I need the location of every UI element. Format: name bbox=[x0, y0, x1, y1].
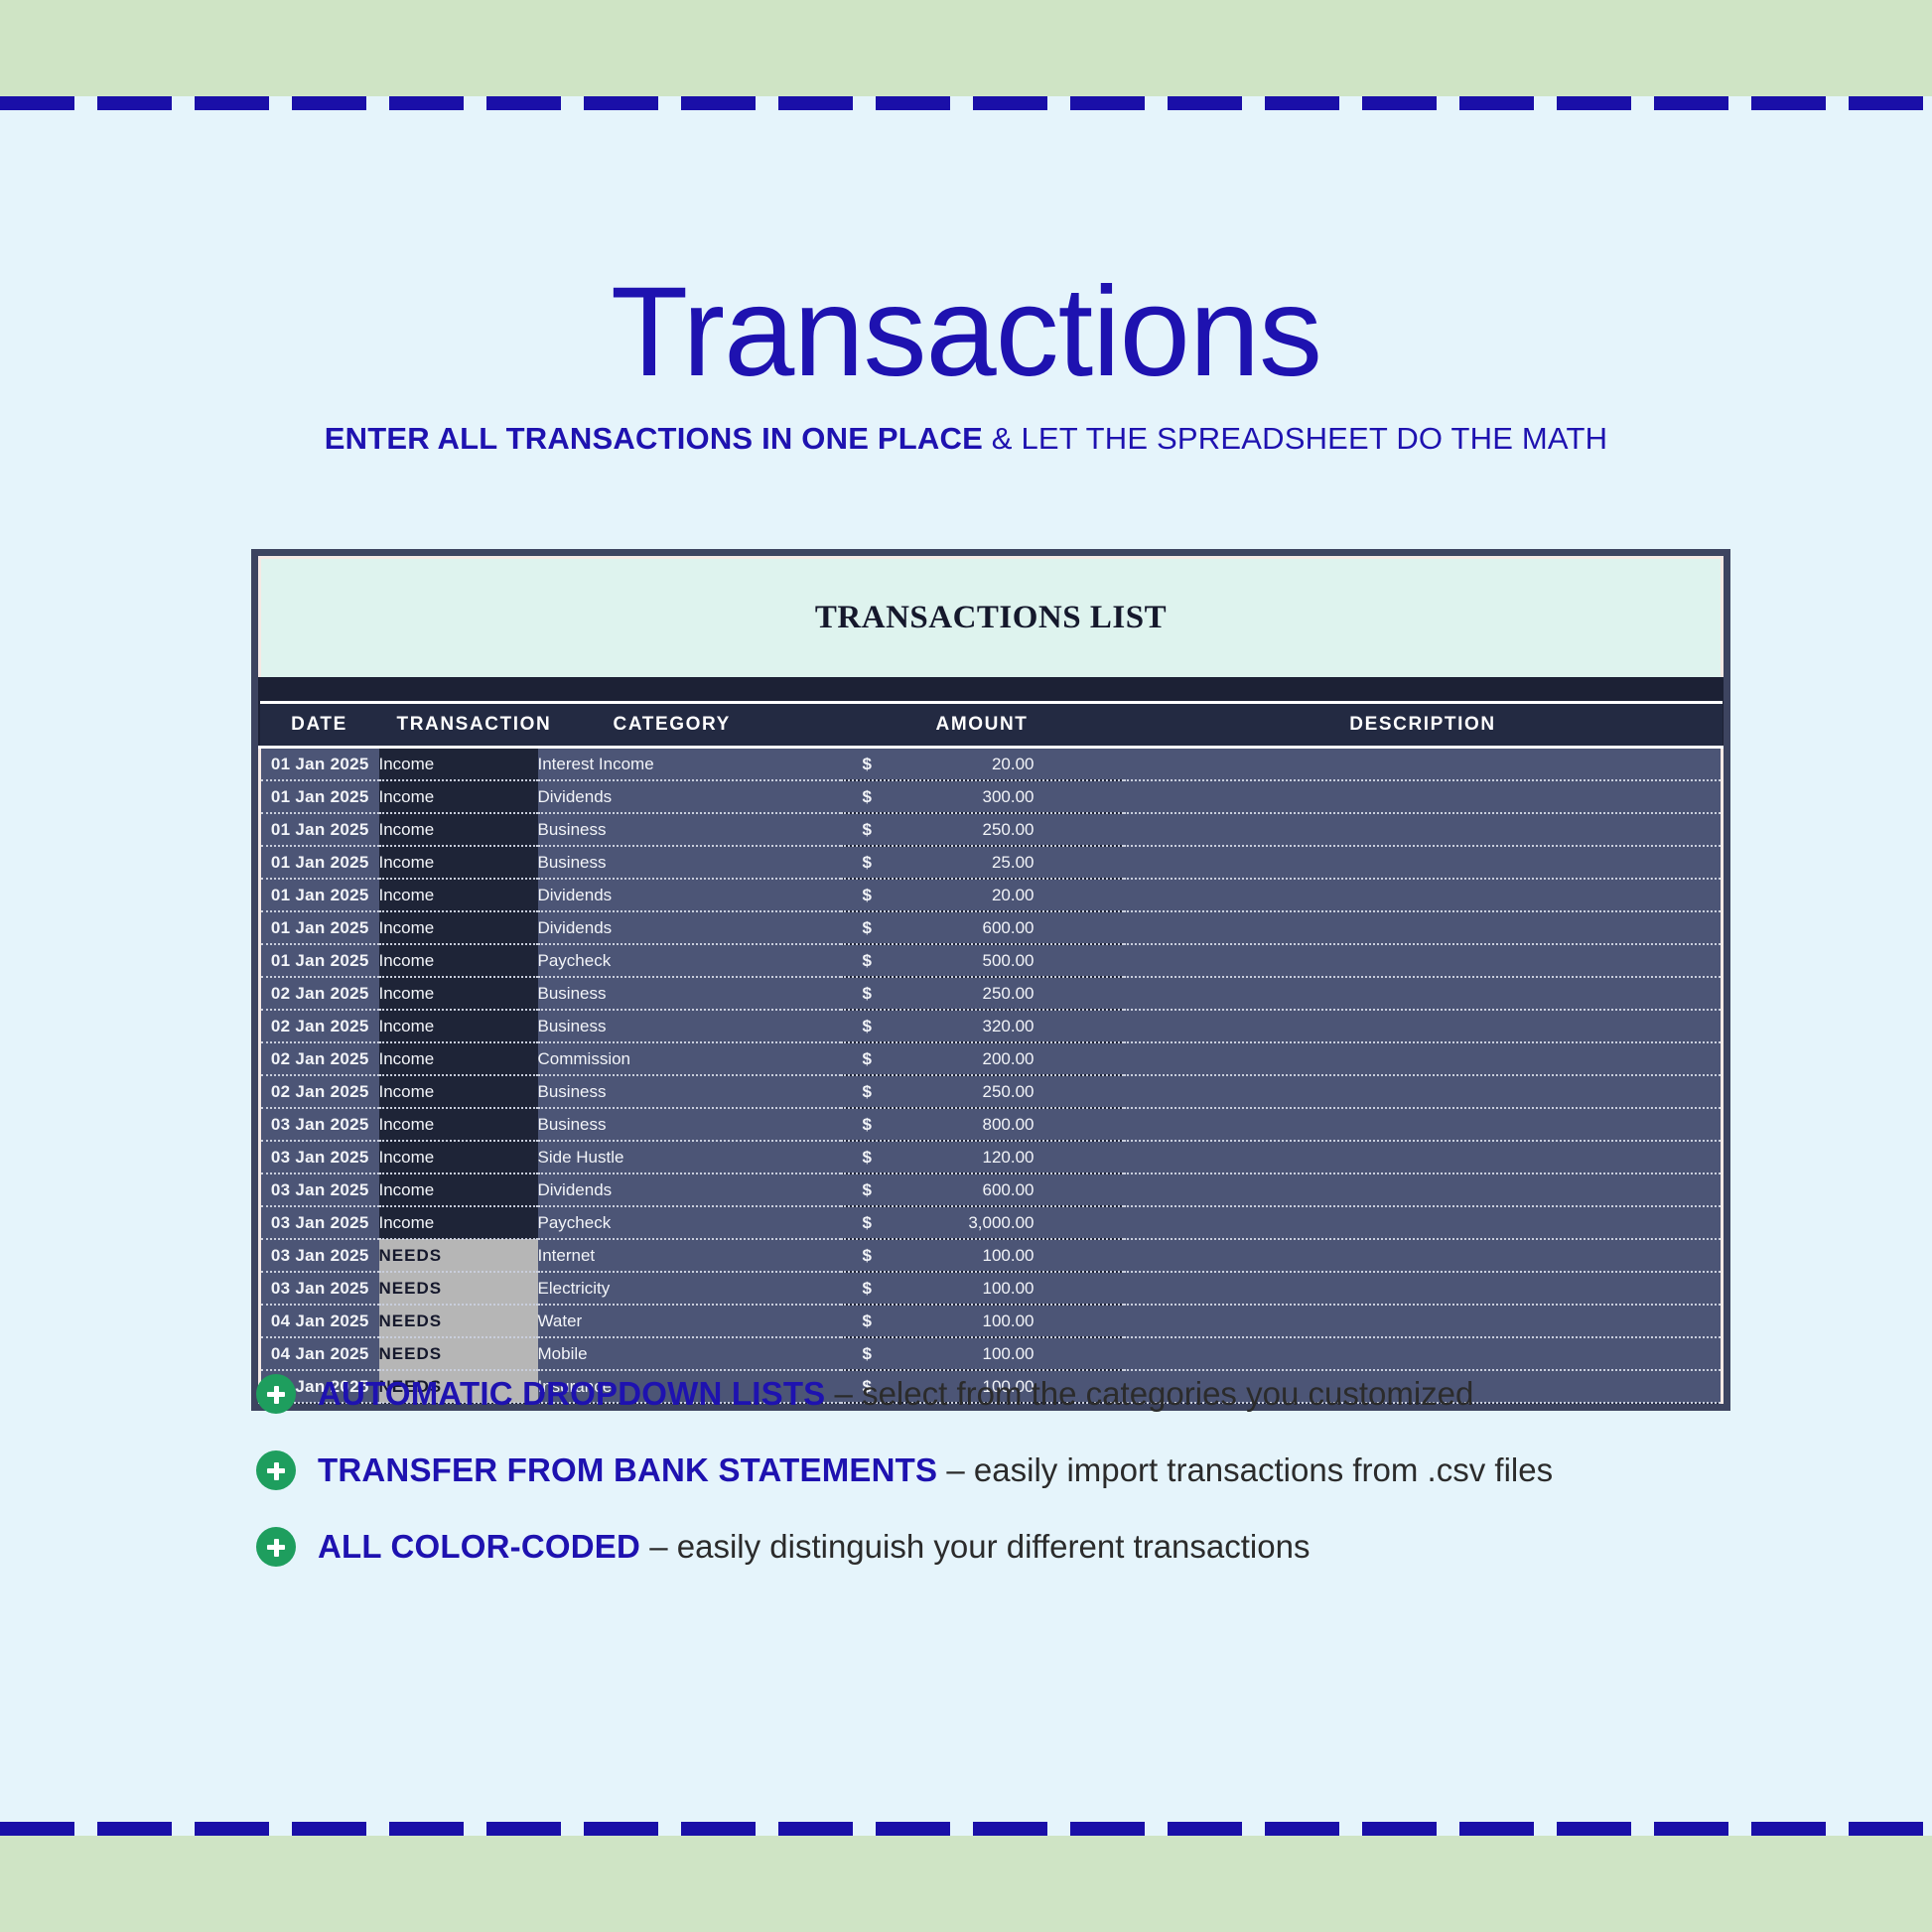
feature-item: TRANSFER FROM BANK STATEMENTS – easily i… bbox=[256, 1450, 1745, 1490]
cell-category[interactable]: Business bbox=[538, 1108, 841, 1141]
cell-category[interactable]: Business bbox=[538, 1075, 841, 1108]
cell-category[interactable]: Internet bbox=[538, 1239, 841, 1272]
cell-transaction[interactable]: Income bbox=[379, 1206, 538, 1239]
cell-amount[interactable]: $120.00 bbox=[841, 1141, 1124, 1173]
cell-date[interactable]: 01 Jan 2025 bbox=[260, 911, 379, 944]
subtitle-strong: ENTER ALL TRANSACTIONS IN ONE PLACE bbox=[325, 421, 983, 456]
cell-transaction[interactable]: Income bbox=[379, 944, 538, 977]
column-header-transaction[interactable]: TRANSACTION bbox=[379, 703, 538, 748]
cell-description[interactable] bbox=[1124, 1010, 1723, 1042]
cell-category[interactable]: Business bbox=[538, 977, 841, 1010]
top-green-band bbox=[0, 0, 1932, 96]
feature-item: AUTOMATIC DROPDOWN LISTS – select from t… bbox=[256, 1374, 1745, 1414]
amount-value: 100.00 bbox=[841, 1311, 1124, 1331]
amount-value: 600.00 bbox=[841, 918, 1124, 938]
plus-circle-icon bbox=[256, 1450, 296, 1490]
cell-amount[interactable]: $600.00 bbox=[841, 911, 1124, 944]
table-row[interactable]: 01 Jan 2025IncomeBusiness$250.00 bbox=[260, 813, 1723, 846]
cell-date[interactable]: 02 Jan 2025 bbox=[260, 977, 379, 1010]
feature-description: – easily import transactions from .csv f… bbox=[937, 1451, 1553, 1488]
cell-description[interactable] bbox=[1124, 977, 1723, 1010]
cell-description[interactable] bbox=[1124, 1337, 1723, 1370]
cell-amount[interactable]: $3,000.00 bbox=[841, 1206, 1124, 1239]
cell-date[interactable]: 01 Jan 2025 bbox=[260, 879, 379, 911]
cell-amount[interactable]: $600.00 bbox=[841, 1173, 1124, 1206]
table-header: DATE TRANSACTION CATEGORY AMOUNT DESCRIP… bbox=[260, 703, 1723, 748]
cell-category[interactable]: Business bbox=[538, 813, 841, 846]
cell-amount[interactable]: $25.00 bbox=[841, 846, 1124, 879]
cell-date[interactable]: 03 Jan 2025 bbox=[260, 1108, 379, 1141]
cell-description[interactable] bbox=[1124, 1173, 1723, 1206]
amount-value: 100.00 bbox=[841, 1246, 1124, 1266]
plus-circle-icon bbox=[256, 1374, 296, 1414]
feature-item: ALL COLOR-CODED – easily distinguish you… bbox=[256, 1527, 1745, 1567]
currency-symbol: $ bbox=[863, 1213, 872, 1233]
currency-symbol: $ bbox=[863, 886, 872, 905]
cell-transaction[interactable]: Income bbox=[379, 1141, 538, 1173]
amount-value: 100.00 bbox=[841, 1279, 1124, 1299]
amount-value: 600.00 bbox=[841, 1180, 1124, 1200]
feature-lead: AUTOMATIC DROPDOWN LISTS bbox=[318, 1375, 825, 1412]
currency-symbol: $ bbox=[863, 1279, 872, 1299]
cell-transaction[interactable]: Income bbox=[379, 879, 538, 911]
cell-amount[interactable]: $250.00 bbox=[841, 977, 1124, 1010]
currency-symbol: $ bbox=[863, 1049, 872, 1069]
cell-amount[interactable]: $20.00 bbox=[841, 879, 1124, 911]
amount-value: 800.00 bbox=[841, 1115, 1124, 1135]
cell-date[interactable]: 02 Jan 2025 bbox=[260, 1010, 379, 1042]
cell-amount[interactable]: $100.00 bbox=[841, 1239, 1124, 1272]
cell-description[interactable] bbox=[1124, 1075, 1723, 1108]
currency-symbol: $ bbox=[863, 1115, 872, 1135]
cell-date[interactable]: 03 Jan 2025 bbox=[260, 1239, 379, 1272]
table-row[interactable]: 03 Jan 2025IncomeSide Hustle$120.00 bbox=[260, 1141, 1723, 1173]
cell-category[interactable]: Dividends bbox=[538, 879, 841, 911]
table-row[interactable]: 03 Jan 2025NEEDSElectricity$100.00 bbox=[260, 1272, 1723, 1305]
amount-value: 20.00 bbox=[841, 755, 1124, 774]
cell-date[interactable]: 03 Jan 2025 bbox=[260, 1141, 379, 1173]
cell-description[interactable] bbox=[1124, 1042, 1723, 1075]
cell-category[interactable]: Business bbox=[538, 846, 841, 879]
feature-lead: TRANSFER FROM BANK STATEMENTS bbox=[318, 1451, 937, 1488]
cell-amount[interactable]: $100.00 bbox=[841, 1337, 1124, 1370]
table-row[interactable]: 01 Jan 2025IncomeDividends$600.00 bbox=[260, 911, 1723, 944]
table-row[interactable]: 02 Jan 2025IncomeCommission$200.00 bbox=[260, 1042, 1723, 1075]
cell-category[interactable]: Commission bbox=[538, 1042, 841, 1075]
feature-description: – easily distinguish your different tran… bbox=[640, 1528, 1310, 1565]
cell-date[interactable]: 01 Jan 2025 bbox=[260, 748, 379, 781]
cell-transaction[interactable]: Income bbox=[379, 1010, 538, 1042]
amount-value: 100.00 bbox=[841, 1344, 1124, 1364]
cell-description[interactable] bbox=[1124, 1108, 1723, 1141]
cell-transaction[interactable]: Income bbox=[379, 813, 538, 846]
currency-symbol: $ bbox=[863, 1344, 872, 1364]
cell-description[interactable] bbox=[1124, 1206, 1723, 1239]
table-row[interactable]: 04 Jan 2025NEEDSMobile$100.00 bbox=[260, 1337, 1723, 1370]
currency-symbol: $ bbox=[863, 853, 872, 873]
cell-amount[interactable]: $800.00 bbox=[841, 1108, 1124, 1141]
amount-value: 25.00 bbox=[841, 853, 1124, 873]
cell-description[interactable] bbox=[1124, 944, 1723, 977]
cell-transaction[interactable]: NEEDS bbox=[379, 1272, 538, 1305]
plus-circle-icon bbox=[256, 1527, 296, 1567]
cell-amount[interactable]: $100.00 bbox=[841, 1272, 1124, 1305]
table-row[interactable]: 04 Jan 2025NEEDSWater$100.00 bbox=[260, 1305, 1723, 1337]
cell-amount[interactable]: $300.00 bbox=[841, 780, 1124, 813]
feature-lead: ALL COLOR-CODED bbox=[318, 1528, 640, 1565]
cell-transaction[interactable]: Income bbox=[379, 977, 538, 1010]
cell-date[interactable]: 01 Jan 2025 bbox=[260, 813, 379, 846]
cell-amount[interactable]: $20.00 bbox=[841, 748, 1124, 781]
cell-description[interactable] bbox=[1124, 780, 1723, 813]
column-header-category[interactable]: CATEGORY bbox=[538, 703, 841, 748]
cell-category[interactable]: Dividends bbox=[538, 780, 841, 813]
table-row[interactable]: 02 Jan 2025IncomeBusiness$250.00 bbox=[260, 1075, 1723, 1108]
table-row[interactable]: 03 Jan 2025IncomeBusiness$800.00 bbox=[260, 1108, 1723, 1141]
currency-symbol: $ bbox=[863, 820, 872, 840]
cell-amount[interactable]: $320.00 bbox=[841, 1010, 1124, 1042]
cell-category[interactable]: Business bbox=[538, 1010, 841, 1042]
transactions-table: DATE TRANSACTION CATEGORY AMOUNT DESCRIP… bbox=[258, 701, 1724, 1404]
cell-transaction[interactable]: Income bbox=[379, 1042, 538, 1075]
amount-value: 250.00 bbox=[841, 820, 1124, 840]
cell-category[interactable]: Dividends bbox=[538, 1173, 841, 1206]
cell-description[interactable] bbox=[1124, 1272, 1723, 1305]
cell-date[interactable]: 01 Jan 2025 bbox=[260, 846, 379, 879]
cell-transaction[interactable]: Income bbox=[379, 780, 538, 813]
currency-symbol: $ bbox=[863, 918, 872, 938]
page-subtitle: ENTER ALL TRANSACTIONS IN ONE PLACE & LE… bbox=[0, 421, 1932, 457]
cell-description[interactable] bbox=[1124, 813, 1723, 846]
table-row[interactable]: 03 Jan 2025IncomeDividends$600.00 bbox=[260, 1173, 1723, 1206]
cell-amount[interactable]: $200.00 bbox=[841, 1042, 1124, 1075]
currency-symbol: $ bbox=[863, 755, 872, 774]
cell-transaction[interactable]: Income bbox=[379, 1075, 538, 1108]
currency-symbol: $ bbox=[863, 1082, 872, 1102]
spreadsheet-inner-frame: TRANSACTIONS LIST bbox=[258, 556, 1724, 677]
amount-value: 300.00 bbox=[841, 787, 1124, 807]
currency-symbol: $ bbox=[863, 951, 872, 971]
cell-transaction[interactable]: NEEDS bbox=[379, 1305, 538, 1337]
amount-value: 500.00 bbox=[841, 951, 1124, 971]
currency-symbol: $ bbox=[863, 1311, 872, 1331]
cell-transaction[interactable]: Income bbox=[379, 1108, 538, 1141]
table-row[interactable]: 03 Jan 2025IncomePaycheck$3,000.00 bbox=[260, 1206, 1723, 1239]
cell-category[interactable]: Electricity bbox=[538, 1272, 841, 1305]
cell-transaction[interactable]: Income bbox=[379, 748, 538, 781]
amount-value: 250.00 bbox=[841, 1082, 1124, 1102]
cell-transaction[interactable]: Income bbox=[379, 1173, 538, 1206]
cell-category[interactable]: Water bbox=[538, 1305, 841, 1337]
currency-symbol: $ bbox=[863, 1017, 872, 1036]
cell-category[interactable]: Side Hustle bbox=[538, 1141, 841, 1173]
cell-category[interactable]: Paycheck bbox=[538, 944, 841, 977]
cell-description[interactable] bbox=[1124, 1141, 1723, 1173]
cell-description[interactable] bbox=[1124, 911, 1723, 944]
cell-date[interactable]: 01 Jan 2025 bbox=[260, 780, 379, 813]
cell-date[interactable]: 03 Jan 2025 bbox=[260, 1272, 379, 1305]
page-title: Transactions bbox=[0, 266, 1932, 399]
spreadsheet-title: TRANSACTIONS LIST bbox=[261, 559, 1721, 677]
feature-description: – select from the categories you customi… bbox=[825, 1375, 1473, 1412]
cell-description[interactable] bbox=[1124, 1305, 1723, 1337]
amount-value: 120.00 bbox=[841, 1148, 1124, 1168]
cell-description[interactable] bbox=[1124, 846, 1723, 879]
feature-list: AUTOMATIC DROPDOWN LISTS – select from t… bbox=[256, 1374, 1745, 1603]
cell-date[interactable]: 01 Jan 2025 bbox=[260, 944, 379, 977]
bottom-dashed-divider bbox=[0, 1822, 1932, 1836]
top-dashed-divider bbox=[0, 96, 1932, 110]
cell-date[interactable]: 04 Jan 2025 bbox=[260, 1305, 379, 1337]
cell-amount[interactable]: $250.00 bbox=[841, 1075, 1124, 1108]
column-header-description[interactable]: DESCRIPTION bbox=[1124, 703, 1723, 748]
cell-category[interactable]: Dividends bbox=[538, 911, 841, 944]
cell-description[interactable] bbox=[1124, 748, 1723, 781]
currency-symbol: $ bbox=[863, 984, 872, 1004]
cell-amount[interactable]: $100.00 bbox=[841, 1305, 1124, 1337]
cell-date[interactable]: 03 Jan 2025 bbox=[260, 1173, 379, 1206]
table-row[interactable]: 01 Jan 2025IncomeInterest Income$20.00 bbox=[260, 748, 1723, 781]
feature-text: ALL COLOR-CODED – easily distinguish you… bbox=[318, 1528, 1310, 1566]
cell-date[interactable]: 02 Jan 2025 bbox=[260, 1042, 379, 1075]
amount-value: 20.00 bbox=[841, 886, 1124, 905]
currency-symbol: $ bbox=[863, 1180, 872, 1200]
table-row[interactable]: 01 Jan 2025IncomePaycheck$500.00 bbox=[260, 944, 1723, 977]
cell-category[interactable]: Paycheck bbox=[538, 1206, 841, 1239]
feature-text: TRANSFER FROM BANK STATEMENTS – easily i… bbox=[318, 1451, 1553, 1489]
cell-category[interactable]: Mobile bbox=[538, 1337, 841, 1370]
cell-transaction[interactable]: NEEDS bbox=[379, 1239, 538, 1272]
table-row[interactable]: 01 Jan 2025IncomeDividends$300.00 bbox=[260, 780, 1723, 813]
feature-text: AUTOMATIC DROPDOWN LISTS – select from t… bbox=[318, 1375, 1473, 1413]
cell-amount[interactable]: $500.00 bbox=[841, 944, 1124, 977]
cell-date[interactable]: 03 Jan 2025 bbox=[260, 1206, 379, 1239]
currency-symbol: $ bbox=[863, 1148, 872, 1168]
spreadsheet-spacer-bar bbox=[258, 677, 1724, 701]
amount-value: 200.00 bbox=[841, 1049, 1124, 1069]
table-row[interactable]: 02 Jan 2025IncomeBusiness$320.00 bbox=[260, 1010, 1723, 1042]
cell-amount[interactable]: $250.00 bbox=[841, 813, 1124, 846]
subtitle-light: & LET THE SPREADSHEET DO THE MATH bbox=[983, 421, 1607, 456]
table-row[interactable]: 02 Jan 2025IncomeBusiness$250.00 bbox=[260, 977, 1723, 1010]
cell-date[interactable]: 04 Jan 2025 bbox=[260, 1337, 379, 1370]
cell-category[interactable]: Interest Income bbox=[538, 748, 841, 781]
currency-symbol: $ bbox=[863, 1246, 872, 1266]
amount-value: 320.00 bbox=[841, 1017, 1124, 1036]
amount-value: 3,000.00 bbox=[841, 1213, 1124, 1233]
spreadsheet-panel: TRANSACTIONS LIST DATE TRANSACTION CATEG… bbox=[251, 549, 1730, 1411]
table-row[interactable]: 01 Jan 2025IncomeBusiness$25.00 bbox=[260, 846, 1723, 879]
cell-date[interactable]: 02 Jan 2025 bbox=[260, 1075, 379, 1108]
table-body: 01 Jan 2025IncomeInterest Income$20.0001… bbox=[260, 748, 1723, 1404]
table-row[interactable]: 01 Jan 2025IncomeDividends$20.00 bbox=[260, 879, 1723, 911]
cell-description[interactable] bbox=[1124, 1239, 1723, 1272]
cell-description[interactable] bbox=[1124, 879, 1723, 911]
table-row[interactable]: 03 Jan 2025NEEDSInternet$100.00 bbox=[260, 1239, 1723, 1272]
currency-symbol: $ bbox=[863, 787, 872, 807]
bottom-green-band bbox=[0, 1836, 1932, 1932]
cell-transaction[interactable]: Income bbox=[379, 911, 538, 944]
column-header-date[interactable]: DATE bbox=[260, 703, 379, 748]
column-header-amount[interactable]: AMOUNT bbox=[841, 703, 1124, 748]
amount-value: 250.00 bbox=[841, 984, 1124, 1004]
cell-transaction[interactable]: NEEDS bbox=[379, 1337, 538, 1370]
cell-transaction[interactable]: Income bbox=[379, 846, 538, 879]
table-header-row: DATE TRANSACTION CATEGORY AMOUNT DESCRIP… bbox=[260, 703, 1723, 748]
